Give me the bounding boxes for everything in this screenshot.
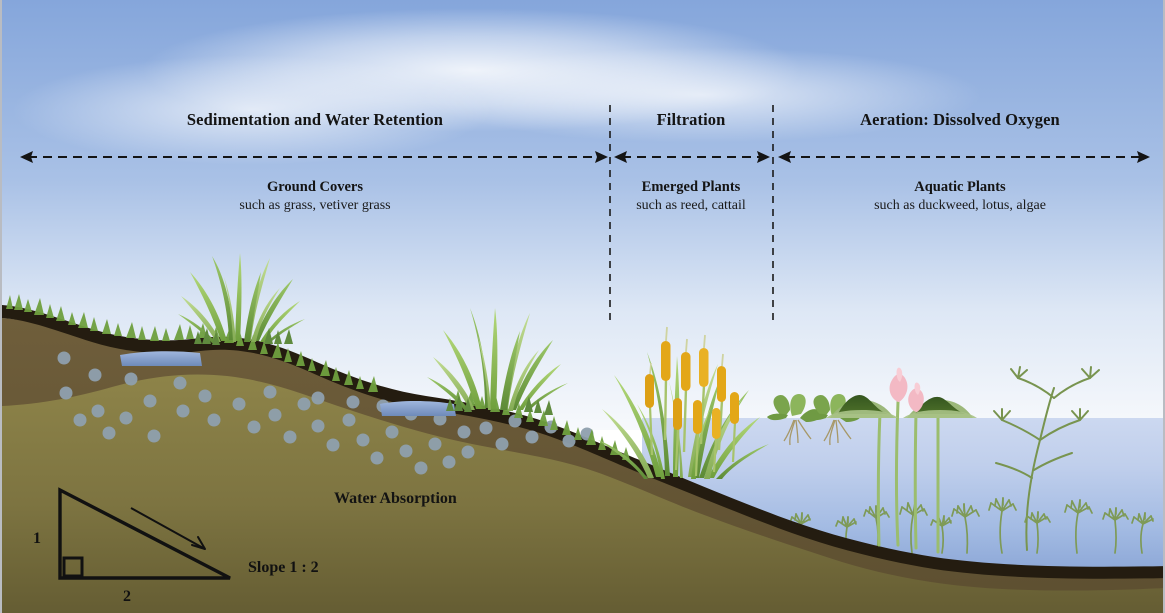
zone-plant-examples-emerged-plants: such as reed, cattail: [601, 198, 781, 214]
zone-title-filtration: Filtration: [611, 110, 771, 130]
zone-title-sedimentation: Sedimentation and Water Retention: [115, 110, 515, 130]
diagram-canvas: Sedimentation and Water Retention Ground…: [0, 0, 1165, 613]
zone-plant-examples-ground-covers: such as grass, vetiver grass: [165, 198, 465, 214]
slope-ratio-label: Slope 1 : 2: [248, 559, 319, 577]
zone-plant-group-aquatic-plants: Aquatic Plants: [810, 179, 1110, 196]
slope-run-label: 2: [123, 588, 131, 606]
zone-plant-group-ground-covers: Ground Covers: [165, 179, 465, 196]
slope-rise-label: 1: [33, 530, 41, 548]
water-absorption-label: Water Absorption: [334, 490, 457, 508]
zone-title-aeration: Aeration: Dissolved Oxygen: [780, 110, 1140, 130]
label-layer: Sedimentation and Water Retention Ground…: [2, 0, 1165, 613]
zone-plant-group-emerged-plants: Emerged Plants: [601, 179, 781, 196]
zone-plant-examples-aquatic-plants: such as duckweed, lotus, algae: [810, 198, 1110, 214]
